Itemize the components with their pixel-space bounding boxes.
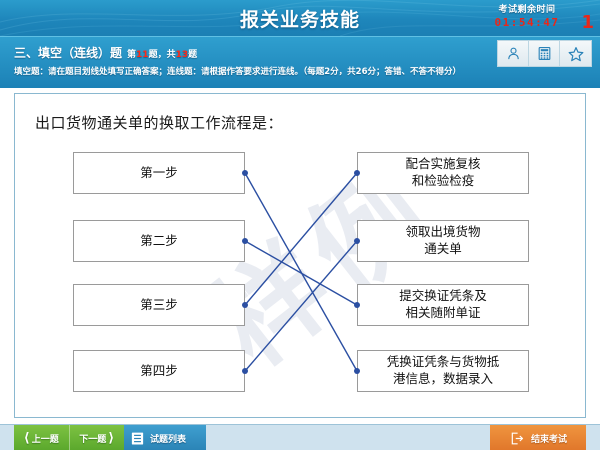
- section-bar: 三、填空（连线）题第11题，共13题 填空题：请在题目划线处填写正确答案；连线题…: [0, 36, 600, 88]
- section-index-prefix: 第: [127, 50, 136, 60]
- match-option-label: 配合实施复核 和检验检疫: [405, 156, 480, 190]
- connector-dot-r2[interactable]: [354, 238, 360, 244]
- bottom-toolbar: ⟨ 上一题 下一题 ⟩ 试题列表: [0, 424, 600, 450]
- exam-app: 报关业务技能 考试剩余时间 01:54:47 1 三、填空（连线）题第11题，共…: [0, 0, 600, 450]
- match-option-l2[interactable]: 第二步: [73, 220, 245, 262]
- match-option-label: 领取出境货物 通关单: [405, 224, 480, 258]
- end-exam-label: 结束考试: [531, 432, 567, 445]
- question-stem: 出口货物通关单的换取工作流程是：: [35, 112, 283, 133]
- user-icon: [506, 46, 521, 61]
- match-option-label: 第四步: [140, 363, 178, 380]
- match-option-label: 凭换证凭条与货物抵 港信息，数据录入: [387, 354, 500, 388]
- match-option-r1[interactable]: 配合实施复核 和检验检疫: [357, 152, 529, 194]
- question-list-label: 试题列表: [150, 432, 186, 445]
- star-icon-button[interactable]: [560, 41, 591, 66]
- timer-label: 考试剩余时间: [462, 2, 592, 15]
- question-list-button[interactable]: 试题列表: [124, 425, 206, 450]
- connector-dot-r1[interactable]: [354, 170, 360, 176]
- next-question-button[interactable]: 下一题 ⟩: [69, 425, 125, 450]
- toolbar-icons: [497, 40, 592, 67]
- prev-question-label: 上一题: [32, 432, 59, 445]
- connector-dot-l4[interactable]: [242, 368, 248, 374]
- end-exam-button[interactable]: 结束考试: [490, 425, 586, 450]
- connection-l3-r1[interactable]: [245, 173, 357, 305]
- timer-value: 01:54:47: [462, 16, 592, 29]
- exit-icon: [509, 431, 525, 446]
- section-title: 三、填空（连线）题第11题，共13题: [14, 44, 197, 61]
- connection-l1-r4[interactable]: [245, 173, 357, 371]
- section-total-suffix: 题: [188, 50, 197, 60]
- next-question-label: 下一题: [79, 432, 106, 445]
- connection-l4-r2[interactable]: [245, 241, 357, 371]
- app-header: 报关业务技能 考试剩余时间 01:54:47 1: [0, 0, 600, 36]
- current-question-number: 1: [581, 12, 594, 33]
- section-index-suffix: 题，共: [149, 50, 176, 60]
- connection-l2-r3[interactable]: [245, 241, 357, 305]
- match-option-label: 第二步: [140, 233, 178, 250]
- section-total-value: 13: [176, 50, 189, 60]
- section-instructions: 填空题：请在题目划线处填写正确答案；连线题：请根据作答要求进行连线。（每题2分，…: [14, 65, 461, 77]
- nav-buttons: ⟨ 上一题 下一题 ⟩: [14, 425, 124, 450]
- user-icon-button[interactable]: [498, 41, 529, 66]
- match-option-l3[interactable]: 第三步: [73, 284, 245, 326]
- list-icon: [130, 431, 145, 446]
- match-option-r3[interactable]: 提交换证凭条及 相关随附单证: [357, 284, 529, 326]
- prev-question-button[interactable]: ⟨ 上一题: [14, 425, 69, 450]
- section-index-value: 11: [136, 50, 149, 60]
- exam-timer: 考试剩余时间 01:54:47: [462, 2, 592, 29]
- match-option-label: 第一步: [140, 165, 178, 182]
- match-option-r2[interactable]: 领取出境货物 通关单: [357, 220, 529, 262]
- chevron-right-icon: ⟩: [108, 432, 114, 445]
- connector-dot-l1[interactable]: [242, 170, 248, 176]
- star-icon: [568, 46, 584, 62]
- match-option-l1[interactable]: 第一步: [73, 152, 245, 194]
- match-option-label: 提交换证凭条及 相关随附单证: [399, 288, 487, 322]
- question-panel: 样例 出口货物通关单的换取工作流程是： 第一步第二步第三步第四步 配合实施复核 …: [14, 93, 586, 418]
- connector-dot-l3[interactable]: [242, 302, 248, 308]
- matching-area: 第一步第二步第三步第四步 配合实施复核 和检验检疫领取出境货物 通关单提交换证凭…: [15, 144, 586, 414]
- connector-dot-l2[interactable]: [242, 238, 248, 244]
- chevron-left-icon: ⟨: [24, 432, 30, 445]
- calculator-icon-button[interactable]: [529, 41, 560, 66]
- match-option-r4[interactable]: 凭换证凭条与货物抵 港信息，数据录入: [357, 350, 529, 392]
- calculator-icon: [537, 46, 552, 61]
- section-title-text: 三、填空（连线）题: [14, 46, 122, 60]
- connector-dot-r3[interactable]: [354, 302, 360, 308]
- connector-dot-r4[interactable]: [354, 368, 360, 374]
- match-option-l4[interactable]: 第四步: [73, 350, 245, 392]
- match-option-label: 第三步: [140, 297, 178, 314]
